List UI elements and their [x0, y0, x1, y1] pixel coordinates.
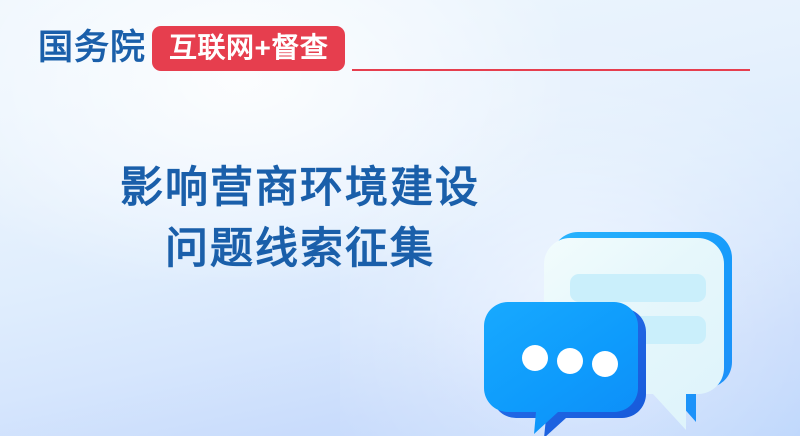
small-message-bubble — [484, 302, 646, 436]
small-bubble-dot-2 — [557, 348, 583, 374]
large-bubble-line-1 — [570, 274, 706, 302]
banner-root: 国务院 互联网+督查 影响营商环境建设 问题线索征集 — [0, 0, 800, 436]
campaign-badge-label: 互联网+督查 — [169, 34, 328, 62]
chat-bubbles-illustration — [478, 218, 778, 436]
campaign-badge: 互联网+督查 — [152, 26, 345, 71]
organization-name: 国务院 — [38, 30, 146, 67]
page-title-line-1: 影响营商环境建设 — [0, 158, 600, 219]
header: 国务院 互联网+督查 — [38, 24, 345, 72]
small-bubble-dot-1 — [522, 345, 548, 371]
small-bubble-dot-3 — [592, 351, 618, 377]
header-divider-rule — [352, 69, 750, 71]
